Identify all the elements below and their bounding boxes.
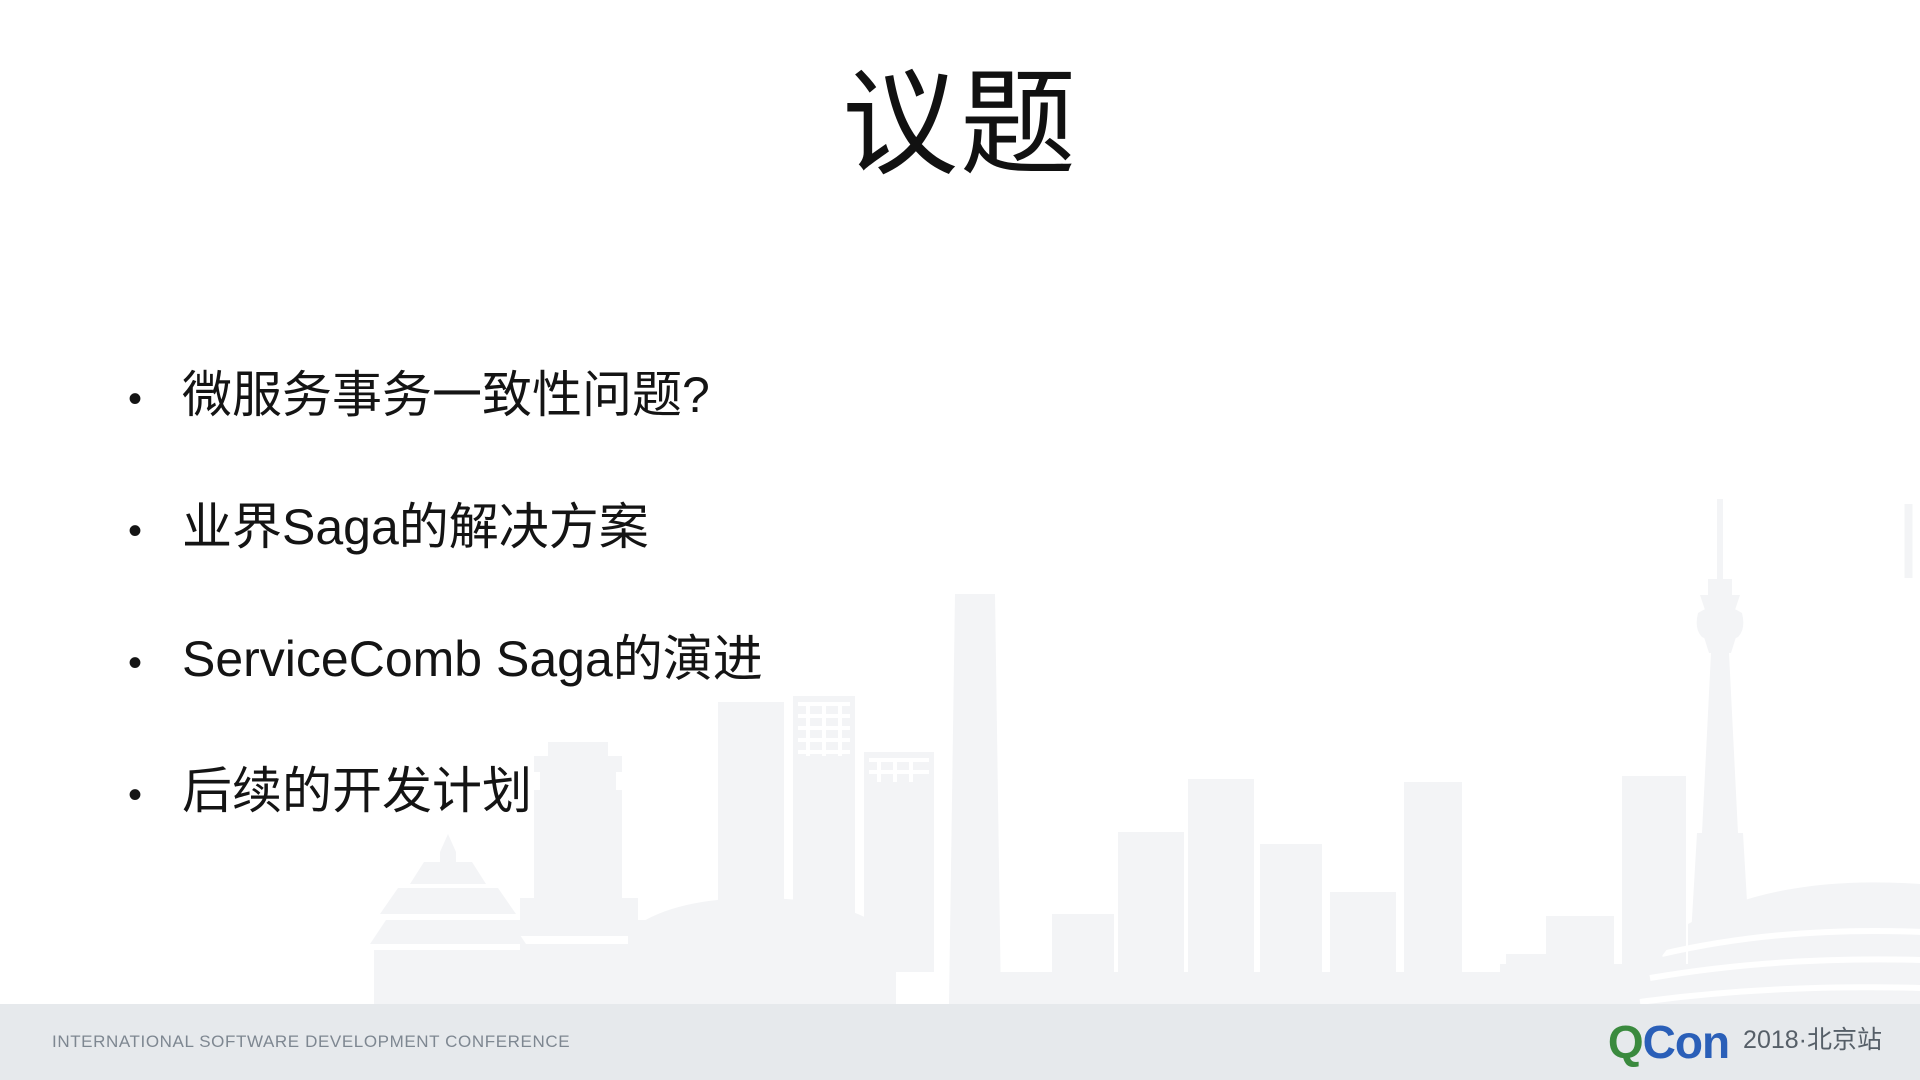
list-item: • 微服务事务一致性问题? bbox=[128, 370, 1528, 502]
page-title: 议题 bbox=[0, 52, 1920, 197]
agenda-list: • 微服务事务一致性问题? • 业界Saga的解决方案 • ServiceCom… bbox=[128, 370, 1528, 898]
bullet-marker-icon: • bbox=[128, 379, 182, 419]
qcon-logo-con-mark: Con bbox=[1643, 1019, 1729, 1065]
slide-footer: INTERNATIONAL SOFTWARE DEVELOPMENT CONFE… bbox=[0, 1004, 1920, 1080]
qcon-logo: Q Con 2018·北京站 bbox=[1608, 1016, 1882, 1068]
bullet-marker-icon: • bbox=[128, 775, 182, 815]
agenda-item-label: 微服务事务一致性问题? bbox=[182, 370, 1528, 420]
agenda-item-label: 业界Saga的解决方案 bbox=[182, 502, 1528, 552]
bullet-marker-icon: • bbox=[128, 511, 182, 551]
agenda-item-label: ServiceComb Saga的演进 bbox=[182, 634, 1528, 684]
agenda-item-label: 后续的开发计划 bbox=[182, 766, 1528, 816]
conference-tagline: INTERNATIONAL SOFTWARE DEVELOPMENT CONFE… bbox=[52, 1032, 570, 1052]
list-item: • ServiceComb Saga的演进 bbox=[128, 634, 1528, 766]
list-item: • 后续的开发计划 bbox=[128, 766, 1528, 898]
qcon-logo-q-mark: Q bbox=[1608, 1019, 1643, 1065]
list-item: • 业界Saga的解决方案 bbox=[128, 502, 1528, 634]
bullet-marker-icon: • bbox=[128, 643, 182, 683]
slide-canvas: 议题 • 微服务事务一致性问题? • 业界Saga的解决方案 • Service… bbox=[0, 0, 1920, 1080]
qcon-logo-edition-label: 2018·北京站 bbox=[1743, 1028, 1882, 1056]
